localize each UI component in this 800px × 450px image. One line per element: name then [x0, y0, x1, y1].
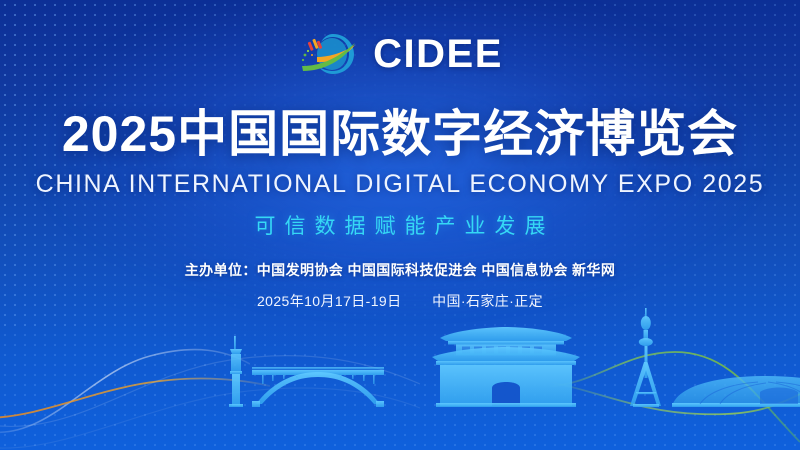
brand-lockup: CIDEE	[0, 30, 800, 78]
city-skyline	[0, 300, 800, 410]
landmark-city-gate	[432, 327, 580, 407]
landmark-arch-bridge	[252, 367, 384, 407]
page-title-cn: 2025中国国际数字经济博览会	[0, 108, 800, 161]
landmark-stadium-dome	[672, 376, 800, 407]
slogan-text: 可信数据赋能产业发展	[0, 216, 800, 237]
cidee-swoosh-globe-icon	[297, 30, 359, 78]
landmark-tower-building	[229, 336, 243, 407]
organizer-line: 主办单位：中国发明协会 中国国际科技促进会 中国信息协会 新华网	[0, 263, 800, 277]
logo-wordmark: CIDEE	[373, 34, 503, 74]
page-title-en: CHINA INTERNATIONAL DIGITAL ECONOMY EXPO…	[0, 172, 800, 197]
expo-banner: CIDEE 2025中国国际数字经济博览会 CHINA INTERNATIONA…	[0, 0, 800, 450]
landmark-tv-tower	[630, 308, 661, 407]
